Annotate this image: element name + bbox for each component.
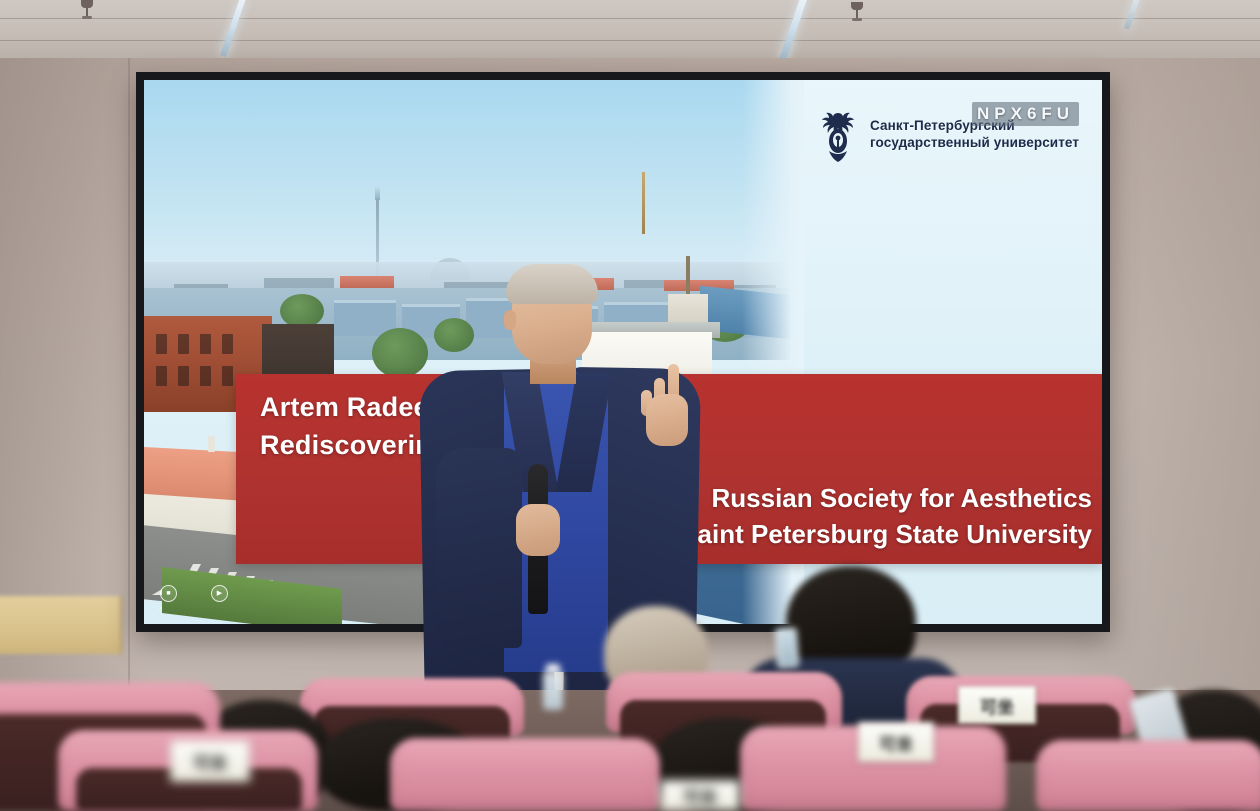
water-bottle-cap (546, 664, 560, 673)
play-button[interactable]: ▶ (211, 585, 228, 602)
seat-placard: 可坐 (958, 686, 1036, 724)
sprinkler-icon (78, 0, 96, 20)
seat-placard: 可坐 (660, 780, 740, 811)
photo-spire (642, 172, 645, 234)
sprinkler-icon (848, 2, 866, 22)
seat-placard: 可坐 (858, 722, 934, 762)
smartphone-recording (775, 627, 800, 668)
slide-playback-controls[interactable]: ■ ▶ (160, 585, 228, 602)
auditorium-seat[interactable] (1036, 740, 1260, 811)
speaker-arm (436, 448, 522, 648)
auditorium-seat[interactable] (390, 738, 660, 811)
photo-tree (280, 294, 324, 328)
ceiling-seam (0, 40, 1260, 41)
wall-wood-panel (0, 596, 122, 654)
stop-icon: ■ (166, 590, 170, 597)
speaker-gesturing-hand (638, 364, 694, 450)
speaker-ear (504, 310, 516, 330)
wall-joint (128, 58, 130, 698)
ceiling (0, 0, 1260, 60)
speaker-hair (506, 264, 598, 304)
photo-chimney (208, 436, 215, 452)
photo-red-roof (340, 276, 394, 288)
watermark-badge: NPX6FU (972, 102, 1079, 126)
speaker-hand-holding-mic (516, 504, 560, 556)
stop-button[interactable]: ■ (160, 585, 177, 602)
seat-placard: 可坐 (170, 740, 250, 782)
ceiling-seam (0, 18, 1260, 19)
water-bottle (543, 672, 563, 710)
russian-double-eagle-crest-icon (816, 107, 860, 163)
lecture-hall-scene: Санкт-Петербургский государственный унив… (0, 0, 1260, 811)
play-icon: ▶ (217, 590, 222, 597)
